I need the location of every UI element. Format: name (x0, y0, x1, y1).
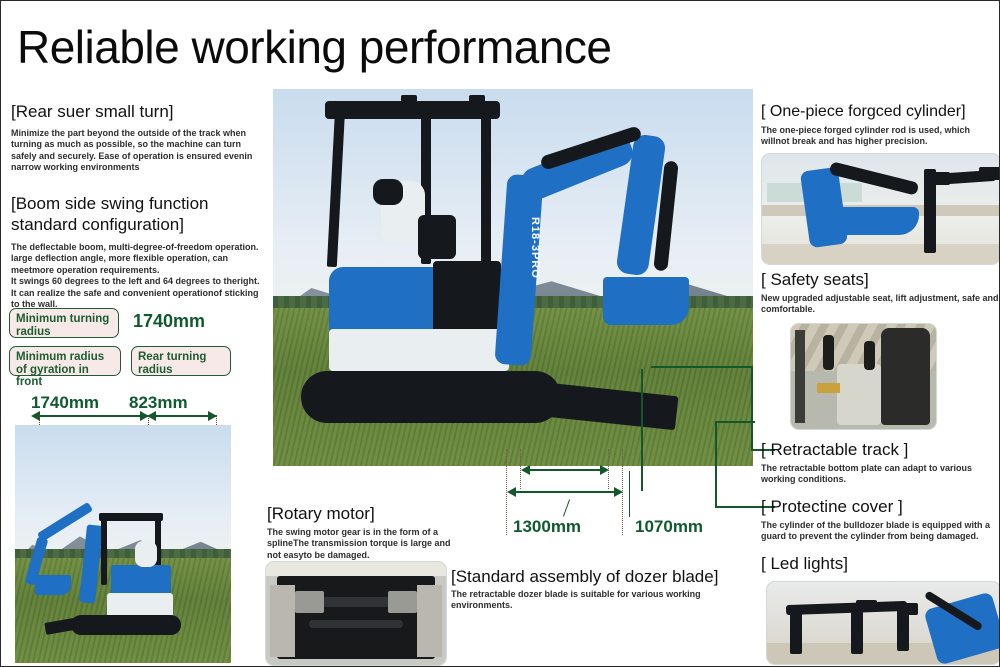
work-light-right (469, 95, 485, 107)
photo-one-piece-forged-cylinder (761, 153, 1000, 265)
value-minimum-turning-radius: 1740mm (133, 311, 205, 332)
section-heading-retractable-track: [ Retractable track ] (761, 439, 999, 460)
connector-retractable-track-v (751, 366, 753, 450)
pill-rear-turning-radius: Rear turning radius (131, 346, 231, 376)
section-standard-assembly-dozer-blade: [Standard assembly of dozer blade] The r… (451, 566, 761, 612)
arrowhead-right-upper (600, 465, 609, 475)
dimension-label-1300mm: 1300mm (513, 517, 581, 537)
dimension-label-1070mm: 1070mm (635, 517, 703, 537)
work-light-left (401, 95, 417, 107)
photo-rotary-motor (265, 561, 447, 666)
section-led-lights: [ Led lights] (761, 553, 999, 574)
pill-minimum-radius-of-gyration-in-front: Minimum radius of gyration in front (9, 346, 121, 376)
section-heading-led-lights: [ Led lights] (761, 553, 999, 574)
section-body-retractable-track: The retractable bottom plate can adapt t… (761, 463, 999, 486)
leader-line-1070 (629, 471, 630, 517)
seat (418, 215, 456, 259)
section-heading-boom-side-swing: [Boom side swing function standard confi… (11, 193, 263, 235)
section-heading-dozer-blade: [Standard assembly of dozer blade] (451, 566, 761, 587)
section-heading-protective-cover: [ Protectine cover ] (761, 496, 999, 517)
excavator-bucket (35, 575, 71, 595)
section-body-rotary-motor: The swing motor gear is in the form of a… (267, 527, 457, 561)
model-decal: R18-3PRO (529, 217, 541, 279)
swing-motor-housing (277, 576, 435, 658)
excavator-canopy-roof (99, 513, 163, 521)
track-pad-right (417, 585, 442, 657)
undercarriage-top (266, 562, 446, 576)
page-title: Reliable working performance (17, 19, 612, 75)
valve-block-left (295, 591, 324, 614)
section-rotary-motor: [Rotary motor] The swing motor gear is i… (267, 503, 457, 561)
joystick-left (823, 335, 835, 371)
bucket (603, 277, 689, 325)
led-light-2 (979, 167, 1000, 180)
connector-retractable-track-h1 (651, 366, 753, 368)
photo-led-lights (766, 581, 1000, 665)
section-body-protective-cover: The cylinder of the bulldozer blade is e… (761, 520, 999, 543)
dimension-label-1740mm: 1740mm (31, 393, 99, 413)
excavator-lower-body (107, 593, 173, 617)
section-rear-small-turn: [Rear suer small turn] Minimize the part… (11, 101, 263, 174)
connector-protective-cover-v (715, 421, 717, 507)
arrowhead-left-upper (521, 465, 530, 475)
section-heading-safety-seats: [ Safety seats] (761, 269, 999, 290)
section-heading-rear-small-turn: [Rear suer small turn] (11, 101, 263, 122)
section-body-one-piece-forged-cylinder: The one-piece forged cylinder rod is use… (761, 125, 999, 148)
poster-page: Reliable working performance [Rear suer … (0, 0, 1000, 667)
section-body-dozer-blade: The retractable dozer blade is suitable … (451, 589, 761, 612)
arrowhead-left-1300 (507, 487, 516, 497)
operator-seat (881, 328, 930, 425)
dimension-label-823mm: 823mm (129, 393, 188, 413)
main-photo-excavator: R18-3PRO (273, 89, 753, 466)
operator-head (373, 179, 403, 205)
dimension-arrow-1740 (39, 415, 149, 417)
section-body-safety-seats: New upgraded adjustable seat, lift adjus… (761, 293, 999, 316)
leader-line-1300 (563, 499, 570, 516)
section-one-piece-forged-cylinder: [ One-piece forgced cylinder] The one-pi… (761, 101, 999, 148)
led-light-right (897, 603, 918, 614)
led-light (929, 172, 950, 185)
valve-block-right (388, 591, 417, 614)
connector-protective-cover-h1 (715, 421, 755, 423)
control-console (837, 364, 881, 425)
track-pad-left (270, 585, 295, 657)
section-retractable-track: [ Retractable track ] The retractable bo… (761, 439, 999, 486)
boom-elbow (824, 207, 919, 236)
dimension-arrow-upper (529, 469, 601, 471)
led-light-left (856, 600, 877, 611)
lower-frame (329, 329, 509, 371)
connector-dozer-v (641, 369, 643, 491)
dimension-arrow-1300 (515, 491, 615, 493)
photo-turning-radius-machine (15, 425, 231, 663)
decal-sticker (817, 383, 840, 394)
pill-minimum-turning-radius: Minimum turning radius (9, 308, 119, 338)
section-heading-one-piece-forged-cylinder: [ One-piece forgced cylinder] (761, 101, 999, 122)
rubber-track (301, 371, 561, 423)
section-heading-rotary-motor: [Rotary motor] (267, 503, 457, 524)
ground (762, 244, 1000, 264)
canopy-post-right (481, 103, 491, 268)
excavator-canopy-post-left (101, 517, 107, 585)
section-body-boom-side-swing: The deflectable boom, multi-degree-of-fr… (11, 242, 263, 310)
cab-pillar (795, 330, 805, 422)
canopy-post-mid (851, 610, 863, 654)
section-protective-cover: [ Protectine cover ] The cylinder of the… (761, 496, 999, 543)
section-boom-side-swing: [Boom side swing function standard confi… (11, 193, 263, 310)
operator-figure (135, 541, 157, 567)
section-body-rear-small-turn: Minimize the part beyond the outside of … (11, 128, 263, 174)
hydraulic-hose-2 (309, 620, 403, 628)
section-safety-seats: [ Safety seats] New upgraded adjustable … (761, 269, 999, 316)
canopy-post-left (790, 610, 802, 654)
arrowhead-right-1300 (614, 487, 623, 497)
joystick-right (864, 341, 876, 370)
photo-safety-seat (790, 323, 937, 430)
